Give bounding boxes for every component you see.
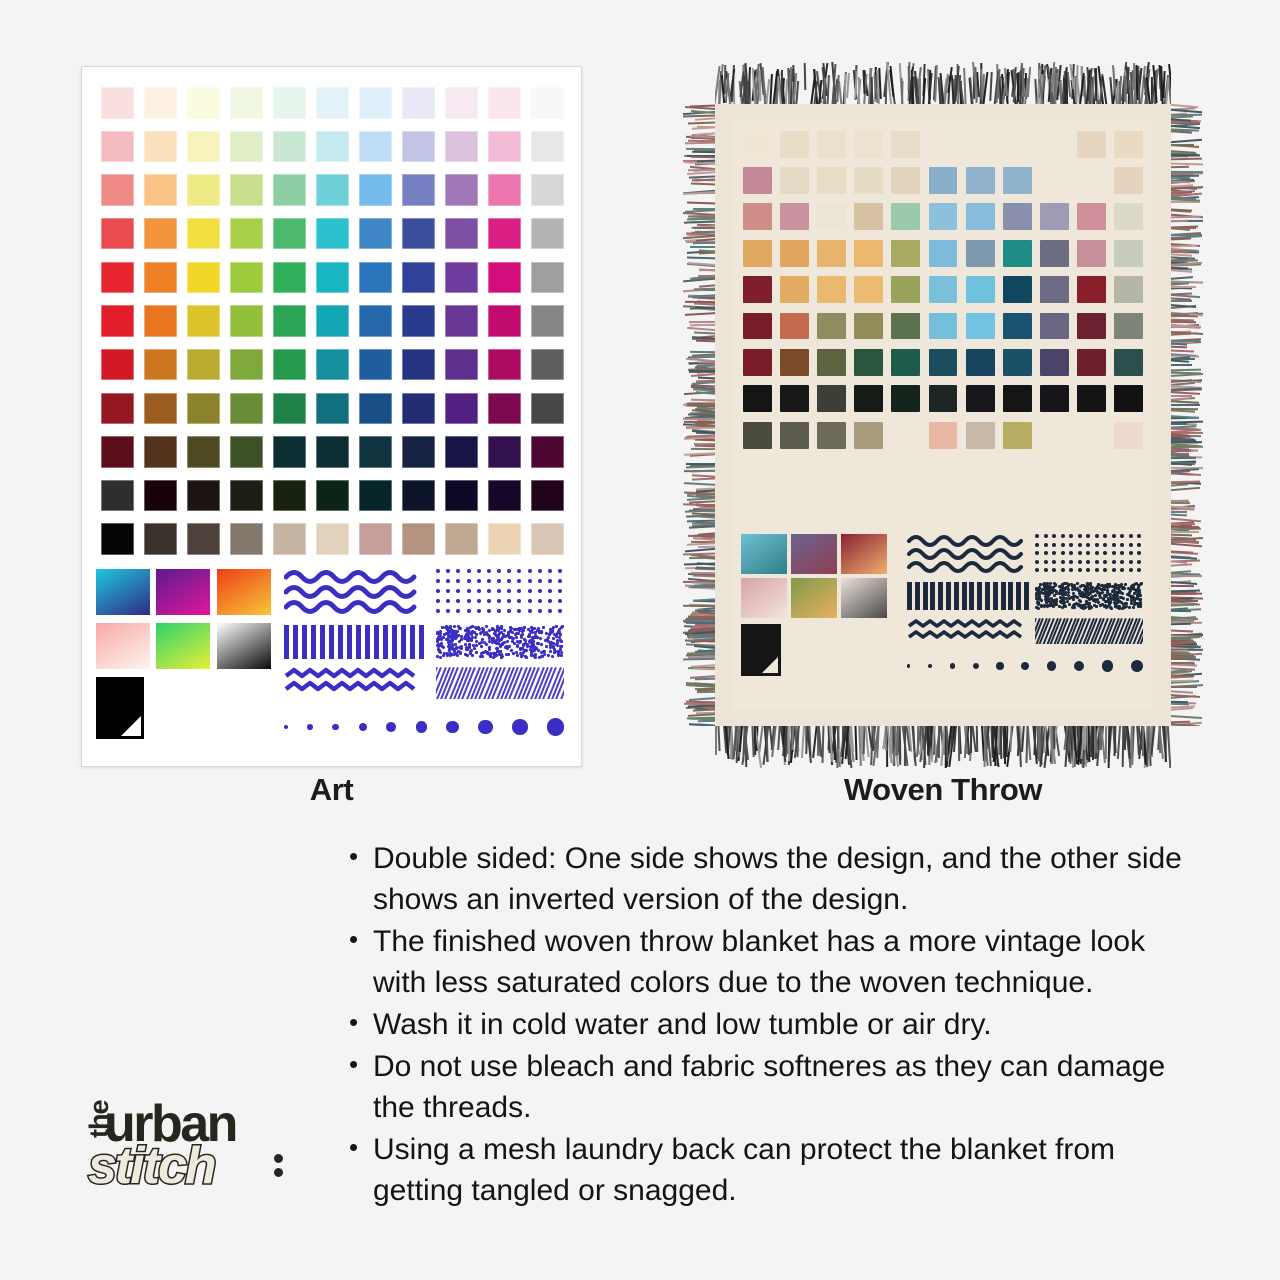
color-swatch xyxy=(1077,385,1106,412)
swatch-cell xyxy=(999,199,1036,235)
brand-logo: the urban stitch xyxy=(78,1092,318,1217)
color-swatch xyxy=(1077,458,1106,485)
color-swatch xyxy=(966,167,995,194)
color-swatch xyxy=(316,480,349,511)
swatch-cell xyxy=(483,125,526,169)
swatch-cell xyxy=(311,125,354,169)
gradient-swatch-orange-yellow xyxy=(217,569,271,615)
swatch-cell xyxy=(483,212,526,256)
swatch-cell xyxy=(440,343,483,387)
swatch-cell xyxy=(999,381,1036,417)
color-swatch xyxy=(488,87,521,118)
throw-fabric-body xyxy=(715,104,1171,726)
swatch-cell xyxy=(139,430,182,474)
swatch-cell xyxy=(1036,235,1073,271)
color-swatch xyxy=(101,393,134,424)
color-swatch xyxy=(273,174,306,205)
color-swatch xyxy=(144,131,177,162)
swatch-cell xyxy=(962,344,999,380)
swatch-cell xyxy=(850,344,887,380)
color-swatch xyxy=(144,218,177,249)
swatch-cell xyxy=(1036,199,1073,235)
color-swatch xyxy=(144,523,177,554)
color-swatch xyxy=(488,436,521,467)
swatch-cell xyxy=(397,517,440,561)
color-swatch xyxy=(101,305,134,336)
color-swatch xyxy=(316,218,349,249)
swatch-cell xyxy=(999,417,1036,453)
color-swatch xyxy=(187,131,220,162)
swatch-cell xyxy=(225,474,268,518)
fringe-bottom xyxy=(715,724,1171,768)
swatch-cell xyxy=(739,381,776,417)
swatch-cell xyxy=(139,343,182,387)
swatch-cell xyxy=(483,430,526,474)
color-swatch xyxy=(144,305,177,336)
fringe-right xyxy=(1170,104,1204,726)
color-swatch xyxy=(144,87,177,118)
color-swatch xyxy=(891,131,920,158)
swatch-cell xyxy=(1110,271,1147,307)
color-swatch xyxy=(929,422,958,449)
swatch-cell xyxy=(354,299,397,343)
swatch-cell xyxy=(813,308,850,344)
swatch-cell xyxy=(139,125,182,169)
swatch-cell xyxy=(96,256,139,300)
color-swatch xyxy=(891,494,920,521)
swatch-cell xyxy=(739,417,776,453)
gradient-swatch-white-black xyxy=(217,623,271,669)
color-swatch xyxy=(966,203,995,230)
color-swatch xyxy=(230,131,263,162)
swatch-cell xyxy=(887,308,924,344)
color-swatch xyxy=(929,458,958,485)
swatch-cell xyxy=(999,308,1036,344)
color-swatch xyxy=(743,422,772,449)
color-swatch xyxy=(402,305,435,336)
color-swatch xyxy=(929,313,958,340)
color-swatch xyxy=(891,422,920,449)
swatch-cell xyxy=(440,256,483,300)
color-swatch xyxy=(1003,458,1032,485)
color-swatch xyxy=(780,131,809,158)
color-swatch xyxy=(817,494,846,521)
swatch-cell xyxy=(1110,162,1147,198)
swatch-cell xyxy=(96,430,139,474)
color-swatch xyxy=(273,305,306,336)
throw-noise-speckle xyxy=(1035,582,1143,610)
swatch-cell xyxy=(813,126,850,162)
swatch-cell xyxy=(739,162,776,198)
swatch-cell xyxy=(139,474,182,518)
vertical-bars-pattern xyxy=(284,625,424,659)
color-swatch xyxy=(1003,131,1032,158)
swatch-cell xyxy=(268,517,311,561)
swatch-cell xyxy=(182,81,225,125)
swatch-cell xyxy=(268,343,311,387)
color-swatch xyxy=(817,313,846,340)
throw-black-logo-mark xyxy=(741,624,781,676)
color-swatch xyxy=(230,305,263,336)
color-swatch xyxy=(359,393,392,424)
swatch-cell xyxy=(526,125,569,169)
color-swatch xyxy=(359,349,392,380)
color-swatch xyxy=(316,87,349,118)
swatch-cell xyxy=(354,81,397,125)
swatch-cell xyxy=(354,343,397,387)
swatch-cell xyxy=(483,256,526,300)
swatch-cell xyxy=(776,162,813,198)
color-swatch xyxy=(817,458,846,485)
swatch-cell xyxy=(1036,417,1073,453)
color-swatch xyxy=(966,313,995,340)
swatch-cell xyxy=(526,256,569,300)
color-swatch xyxy=(144,393,177,424)
bullet-item: Double sided: One side shows the design,… xyxy=(345,838,1205,920)
swatch-cell xyxy=(887,381,924,417)
color-swatch xyxy=(1077,422,1106,449)
swatch-cell xyxy=(962,162,999,198)
color-swatch xyxy=(1040,167,1069,194)
color-swatch xyxy=(488,262,521,293)
color-swatch xyxy=(743,349,772,376)
swatch-cell xyxy=(182,517,225,561)
swatch-cell xyxy=(1110,126,1147,162)
swatch-cell xyxy=(850,308,887,344)
color-swatch xyxy=(854,349,883,376)
swatch-cell xyxy=(887,453,924,489)
color-swatch xyxy=(780,240,809,267)
color-swatch xyxy=(1003,385,1032,412)
color-swatch xyxy=(1114,167,1143,194)
swatch-cell xyxy=(483,343,526,387)
swatch-cell xyxy=(887,235,924,271)
swatch-cell xyxy=(311,256,354,300)
color-swatch xyxy=(359,174,392,205)
swatch-cell xyxy=(1036,344,1073,380)
swatch-cell xyxy=(397,212,440,256)
color-swatch xyxy=(359,218,392,249)
color-swatch xyxy=(101,262,134,293)
swatch-cell xyxy=(354,517,397,561)
color-swatch xyxy=(817,240,846,267)
color-swatch xyxy=(780,167,809,194)
swatch-cell xyxy=(962,381,999,417)
color-swatch xyxy=(780,385,809,412)
swatch-cell xyxy=(182,212,225,256)
color-swatch xyxy=(891,385,920,412)
swatch-cell xyxy=(440,430,483,474)
swatch-cell xyxy=(739,271,776,307)
color-swatch xyxy=(854,458,883,485)
color-swatch xyxy=(780,313,809,340)
swatch-cell xyxy=(354,256,397,300)
color-swatch xyxy=(445,131,478,162)
color-swatch xyxy=(1040,422,1069,449)
color-swatch xyxy=(780,422,809,449)
color-swatch xyxy=(891,313,920,340)
color-swatch xyxy=(817,203,846,230)
color-swatch xyxy=(891,458,920,485)
throw-gradient-5 xyxy=(791,578,837,618)
swatch-cell xyxy=(440,474,483,518)
throw-gradient-4 xyxy=(741,578,787,618)
color-swatch xyxy=(230,174,263,205)
color-swatch xyxy=(531,305,564,336)
swatch-cell xyxy=(813,199,850,235)
color-swatch xyxy=(273,87,306,118)
swatch-cell xyxy=(924,199,961,235)
color-swatch xyxy=(101,174,134,205)
color-swatch xyxy=(1040,458,1069,485)
swatch-cell xyxy=(962,271,999,307)
color-swatch xyxy=(817,349,846,376)
swatch-cell xyxy=(397,256,440,300)
color-swatch xyxy=(101,523,134,554)
color-swatch xyxy=(531,349,564,380)
color-swatch xyxy=(187,87,220,118)
color-swatch xyxy=(929,276,958,303)
swatch-cell xyxy=(311,517,354,561)
swatch-cell xyxy=(1036,453,1073,489)
color-swatch xyxy=(929,240,958,267)
color-swatch xyxy=(488,393,521,424)
dot-grid-pattern xyxy=(436,569,564,615)
swatch-cell xyxy=(887,199,924,235)
color-swatch xyxy=(101,480,134,511)
swatch-cell xyxy=(397,299,440,343)
color-swatch xyxy=(273,480,306,511)
color-swatch xyxy=(187,174,220,205)
color-swatch xyxy=(316,305,349,336)
swatch-cell xyxy=(1110,308,1147,344)
feature-bullet-list: Double sided: One side shows the design,… xyxy=(345,838,1205,1212)
swatch-cell xyxy=(739,344,776,380)
swatch-cell xyxy=(1110,235,1147,271)
swatch-cell xyxy=(999,126,1036,162)
color-swatch xyxy=(854,167,883,194)
swatch-cell xyxy=(776,199,813,235)
color-swatch xyxy=(187,349,220,380)
throw-zigzag-lines xyxy=(907,618,1031,648)
swatch-cell xyxy=(1036,381,1073,417)
color-swatch xyxy=(402,87,435,118)
swatch-cell xyxy=(526,517,569,561)
color-swatch xyxy=(966,349,995,376)
color-swatch xyxy=(101,436,134,467)
color-swatch xyxy=(743,276,772,303)
color-swatch xyxy=(445,305,478,336)
swatch-cell xyxy=(139,168,182,212)
color-swatch xyxy=(531,87,564,118)
color-swatch xyxy=(488,218,521,249)
color-swatch xyxy=(187,436,220,467)
bullet-item: Wash it in cold water and low tumble or … xyxy=(345,1004,1205,1045)
swatch-cell xyxy=(96,343,139,387)
swatch-cell xyxy=(962,199,999,235)
color-swatch xyxy=(854,203,883,230)
art-preview-card xyxy=(81,66,582,767)
swatch-cell xyxy=(225,343,268,387)
swatch-cell xyxy=(924,126,961,162)
swatch-cell xyxy=(225,430,268,474)
swatch-cell xyxy=(354,125,397,169)
swatch-cell xyxy=(182,125,225,169)
color-swatch xyxy=(1040,349,1069,376)
color-swatch xyxy=(445,523,478,554)
swatch-cell xyxy=(924,453,961,489)
swatch-cell xyxy=(1073,490,1110,526)
swatch-cell xyxy=(268,125,311,169)
color-swatch xyxy=(1077,167,1106,194)
swatch-cell xyxy=(483,299,526,343)
throw-color-grid xyxy=(739,126,1147,526)
color-swatch xyxy=(854,276,883,303)
color-swatch xyxy=(273,262,306,293)
swatch-cell xyxy=(397,430,440,474)
swatch-cell xyxy=(268,212,311,256)
color-swatch xyxy=(966,422,995,449)
throw-wavy-lines xyxy=(907,532,1031,576)
color-swatch xyxy=(488,523,521,554)
swatch-cell xyxy=(924,308,961,344)
swatch-cell xyxy=(96,168,139,212)
color-swatch xyxy=(488,480,521,511)
color-swatch xyxy=(1077,349,1106,376)
swatch-cell xyxy=(1036,162,1073,198)
color-swatch xyxy=(1114,276,1143,303)
color-swatch xyxy=(854,385,883,412)
black-logo-mark xyxy=(96,677,144,739)
color-swatch xyxy=(316,349,349,380)
swatch-cell xyxy=(850,199,887,235)
color-swatch xyxy=(1077,276,1106,303)
swatch-cell xyxy=(1073,344,1110,380)
throw-gradient-6 xyxy=(841,578,887,618)
swatch-cell xyxy=(311,168,354,212)
color-swatch xyxy=(531,218,564,249)
color-swatch xyxy=(891,240,920,267)
color-swatch xyxy=(743,240,772,267)
color-swatch xyxy=(743,131,772,158)
color-swatch xyxy=(187,305,220,336)
logo-colon-dots xyxy=(274,1154,283,1182)
swatch-cell xyxy=(225,299,268,343)
wavy-lines-pattern xyxy=(284,567,426,617)
swatch-cell xyxy=(999,235,1036,271)
swatch-cell xyxy=(776,453,813,489)
swatch-cell xyxy=(887,417,924,453)
swatch-cell xyxy=(924,235,961,271)
color-swatch xyxy=(780,458,809,485)
throw-design-area xyxy=(733,120,1153,710)
throw-vertical-bars xyxy=(907,582,1029,610)
swatch-cell xyxy=(96,81,139,125)
color-swatch xyxy=(273,393,306,424)
swatch-cell xyxy=(526,168,569,212)
swatch-cell xyxy=(354,168,397,212)
swatch-cell xyxy=(440,212,483,256)
color-swatch xyxy=(445,87,478,118)
bullet-item: Using a mesh laundry back can protect th… xyxy=(345,1129,1205,1211)
swatch-cell xyxy=(483,474,526,518)
swatch-cell xyxy=(225,256,268,300)
color-swatch xyxy=(929,349,958,376)
throw-dot-grid xyxy=(1035,534,1143,574)
color-swatch xyxy=(891,276,920,303)
swatch-cell xyxy=(999,344,1036,380)
swatch-cell xyxy=(962,126,999,162)
swatch-cell xyxy=(268,474,311,518)
color-swatch xyxy=(1003,313,1032,340)
swatch-cell xyxy=(440,299,483,343)
swatch-cell xyxy=(1073,453,1110,489)
swatch-cell xyxy=(397,343,440,387)
swatch-cell xyxy=(739,235,776,271)
color-swatch xyxy=(966,240,995,267)
noise-speckle-pattern xyxy=(436,625,564,659)
swatch-cell xyxy=(924,490,961,526)
color-swatch xyxy=(101,131,134,162)
swatch-cell xyxy=(739,453,776,489)
swatch-cell xyxy=(887,344,924,380)
color-swatch xyxy=(316,131,349,162)
color-swatch xyxy=(187,218,220,249)
color-swatch xyxy=(402,480,435,511)
color-swatch xyxy=(1040,240,1069,267)
diagonal-hatch-pattern xyxy=(436,667,564,699)
swatch-cell xyxy=(1073,162,1110,198)
color-swatch xyxy=(743,203,772,230)
swatch-cell xyxy=(96,474,139,518)
color-swatch xyxy=(359,436,392,467)
color-swatch xyxy=(1003,167,1032,194)
color-swatch xyxy=(780,276,809,303)
swatch-cell xyxy=(182,430,225,474)
color-swatch xyxy=(488,349,521,380)
swatch-cell xyxy=(440,168,483,212)
swatch-cell xyxy=(962,235,999,271)
logo-word-stitch: stitch xyxy=(88,1136,215,1196)
color-swatch xyxy=(929,385,958,412)
swatch-cell xyxy=(1036,271,1073,307)
color-swatch xyxy=(230,349,263,380)
color-swatch xyxy=(531,393,564,424)
color-swatch xyxy=(144,262,177,293)
color-swatch xyxy=(966,494,995,521)
swatch-cell xyxy=(526,299,569,343)
swatch-cell xyxy=(397,81,440,125)
color-swatch xyxy=(929,203,958,230)
swatch-cell xyxy=(225,386,268,430)
color-swatch xyxy=(1040,313,1069,340)
color-swatch xyxy=(187,262,220,293)
swatch-cell xyxy=(999,490,1036,526)
color-swatch xyxy=(402,523,435,554)
swatch-cell xyxy=(776,235,813,271)
swatch-cell xyxy=(999,162,1036,198)
dot-size-scale-pattern xyxy=(284,715,564,739)
swatch-cell xyxy=(397,168,440,212)
swatch-cell xyxy=(813,417,850,453)
swatch-cell xyxy=(813,490,850,526)
swatch-cell xyxy=(887,162,924,198)
swatch-cell xyxy=(182,168,225,212)
swatch-cell xyxy=(440,125,483,169)
fringe-top xyxy=(715,62,1171,106)
color-swatch xyxy=(1040,276,1069,303)
swatch-cell xyxy=(526,430,569,474)
